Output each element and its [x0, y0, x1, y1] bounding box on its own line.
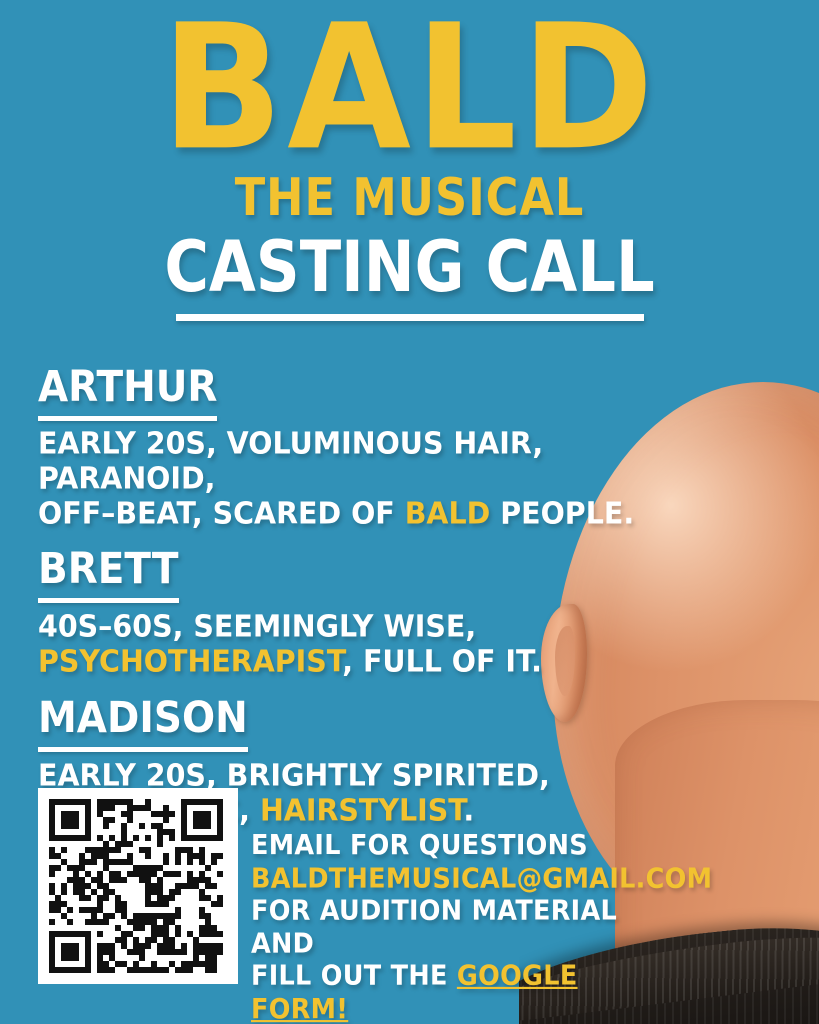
role-description-line-2: OFF–BEAT, SCARED OF BALD PEOPLE.	[38, 496, 638, 531]
contact-block: EMAIL FOR QUESTIONS BALDTHEMUSICAL@GMAIL…	[251, 830, 651, 1024]
role-description: EARLY 20S, VOLUMINOUS HAIR, PARANOID, OF…	[38, 426, 638, 531]
casting-call-poster: BALD THE MUSICAL CASTING CALL ARTHUR EAR…	[0, 0, 819, 1024]
role-description-line-1: EARLY 20S, VOLUMINOUS HAIR, PARANOID,	[38, 426, 638, 496]
role-description-line-2: PSYCHOTHERAPIST, FULL OF IT.	[38, 644, 638, 679]
role-brett: BRETT 40S–60S, SEEMINGLY WISE, PSYCHOTHE…	[38, 550, 638, 677]
contact-line-google-form: FILL OUT THE GOOGLE FORM!	[251, 961, 651, 1024]
role-description-text: 40S–60S, SEEMINGLY WISE,	[38, 609, 476, 644]
show-subtitle: THE MUSICAL	[12, 171, 806, 223]
qr-code-container[interactable]	[38, 788, 238, 984]
role-description-text: PEOPLE.	[490, 496, 634, 531]
poster-header: BALD THE MUSICAL CASTING CALL	[0, 0, 819, 321]
role-name-underline	[38, 598, 179, 603]
roles-list: ARTHUR EARLY 20S, VOLUMINOUS HAIR, PARAN…	[38, 368, 638, 848]
role-description-line-1: 40S–60S, SEEMINGLY WISE,	[38, 609, 638, 644]
role-name: ARTHUR	[38, 366, 217, 409]
contact-line-email-for-questions: EMAIL FOR QUESTIONS	[251, 830, 651, 863]
role-description-text: .	[463, 793, 474, 828]
role-name: MADISON	[38, 697, 248, 740]
role-description-highlight: BALD	[405, 496, 491, 531]
role-name: BRETT	[38, 548, 179, 591]
role-description-text: OFF–BEAT, SCARED OF	[38, 496, 405, 531]
show-title: BALD	[0, 6, 819, 170]
qr-code-icon[interactable]	[49, 799, 223, 973]
contact-text: FILL OUT THE	[251, 961, 457, 993]
contact-email[interactable]: BALDTHEMUSICAL@GMAIL.COM	[251, 862, 651, 895]
title-underline-rule	[176, 314, 644, 321]
role-name-underline	[38, 416, 217, 421]
role-description-highlight: PSYCHOTHERAPIST	[38, 644, 342, 679]
page-title: CASTING CALL	[8, 232, 811, 303]
role-description-text: EARLY 20S, VOLUMINOUS HAIR, PARANOID,	[38, 426, 543, 496]
role-description-text: , FULL OF IT.	[342, 644, 542, 679]
role-name-underline	[38, 747, 248, 752]
contact-line-audition-material: FOR AUDITION MATERIAL AND	[251, 895, 651, 960]
role-description: 40S–60S, SEEMINGLY WISE, PSYCHOTHERAPIST…	[38, 609, 638, 679]
role-description-highlight: HAIRSTYLIST	[260, 793, 463, 828]
role-arthur: ARTHUR EARLY 20S, VOLUMINOUS HAIR, PARAN…	[38, 368, 638, 528]
